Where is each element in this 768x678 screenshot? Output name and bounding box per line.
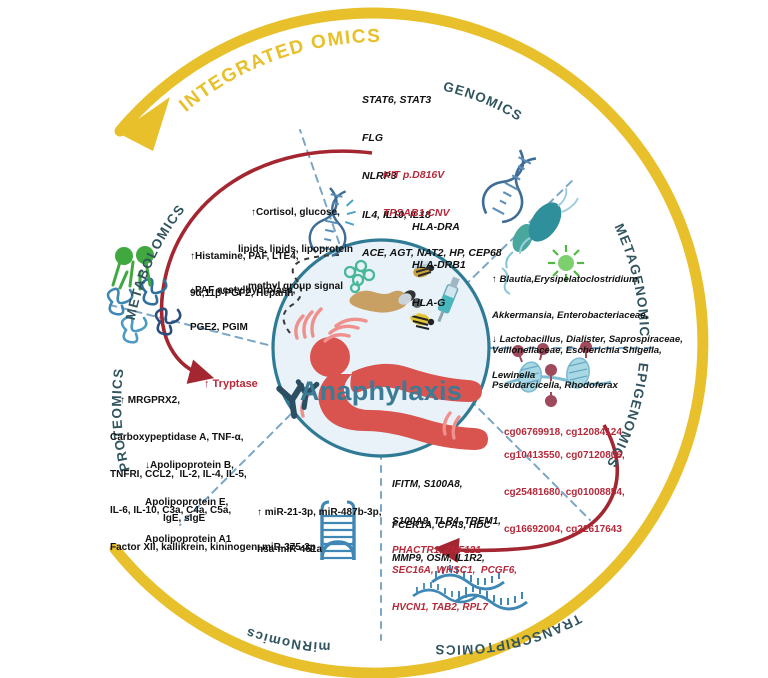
mirnomics-down-text: ↓miR-375-3p bbox=[257, 518, 316, 579]
proteomics-ige-text: IgE, sIgE bbox=[163, 489, 205, 550]
metagenomics-down-text: ↓ Lactobacillus, Dialister, Saprospirace… bbox=[492, 311, 683, 405]
epigenomics-cpg-2-text: cg10413550, cg07120806, cg25481680, cg01… bbox=[504, 426, 625, 560]
ring-title: INTEGRATED OMICS bbox=[176, 26, 382, 116]
metabolomics-down-text: ↓PAF acetylhydrolase, PGE2, PGIM bbox=[190, 261, 295, 359]
figure-canvas: INTEGRATED OMICS GENOMICS METAGENOMICS E… bbox=[0, 0, 768, 678]
center-label: Anaphylaxis bbox=[281, 375, 481, 408]
genomics-hla-text: HLA-DRA HLA-DRB1 HLA-G bbox=[412, 195, 466, 336]
transcriptomics-red-2-text: SEC16A, WHSC1, PCGF6, HVCN1, TAB2, RPL7 bbox=[392, 541, 517, 639]
